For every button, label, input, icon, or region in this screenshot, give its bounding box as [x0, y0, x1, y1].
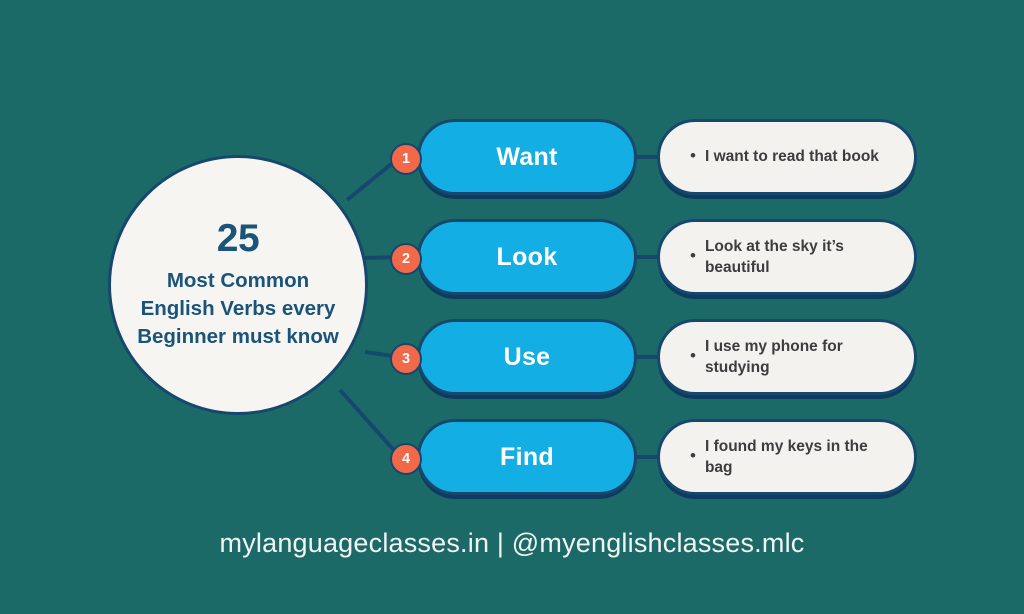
example-text: I want to read that book	[705, 146, 879, 167]
verb-label: Look	[497, 243, 558, 272]
bullet-icon: •	[690, 445, 696, 468]
example-card: • I use my phone for studying	[657, 319, 917, 395]
verb-label: Find	[500, 443, 554, 472]
verb-number-badge: 4	[390, 443, 422, 475]
infographic-canvas: 25 Most Common English Verbs every Begin…	[0, 0, 1024, 614]
verb-pill[interactable]: Want	[417, 119, 637, 195]
example-card: • I want to read that book	[657, 119, 917, 195]
verb-number-badge: 1	[390, 143, 422, 175]
bullet-icon: •	[690, 245, 696, 268]
footer-credit: mylanguageclasses.in | @myenglishclasses…	[0, 528, 1024, 559]
hub-title: Most Common English Verbs every Beginner…	[133, 267, 343, 350]
verb-pill[interactable]: Look	[417, 219, 637, 295]
example-card: • Look at the sky it’s beautiful	[657, 219, 917, 295]
verb-label: Want	[496, 143, 557, 172]
example-card: • I found my keys in the bag	[657, 419, 917, 495]
bullet-icon: •	[690, 345, 696, 368]
example-text: Look at the sky it’s beautiful	[705, 236, 892, 279]
verb-pill[interactable]: Use	[417, 319, 637, 395]
verb-number-badge: 2	[390, 243, 422, 275]
verb-label: Use	[504, 343, 551, 372]
verb-number-badge: 3	[390, 343, 422, 375]
example-text: I found my keys in the bag	[705, 436, 892, 479]
bullet-icon: •	[690, 145, 696, 168]
central-hub: 25 Most Common English Verbs every Begin…	[108, 155, 368, 415]
example-text: I use my phone for studying	[705, 336, 892, 379]
hub-count: 25	[217, 219, 259, 258]
verb-pill[interactable]: Find	[417, 419, 637, 495]
